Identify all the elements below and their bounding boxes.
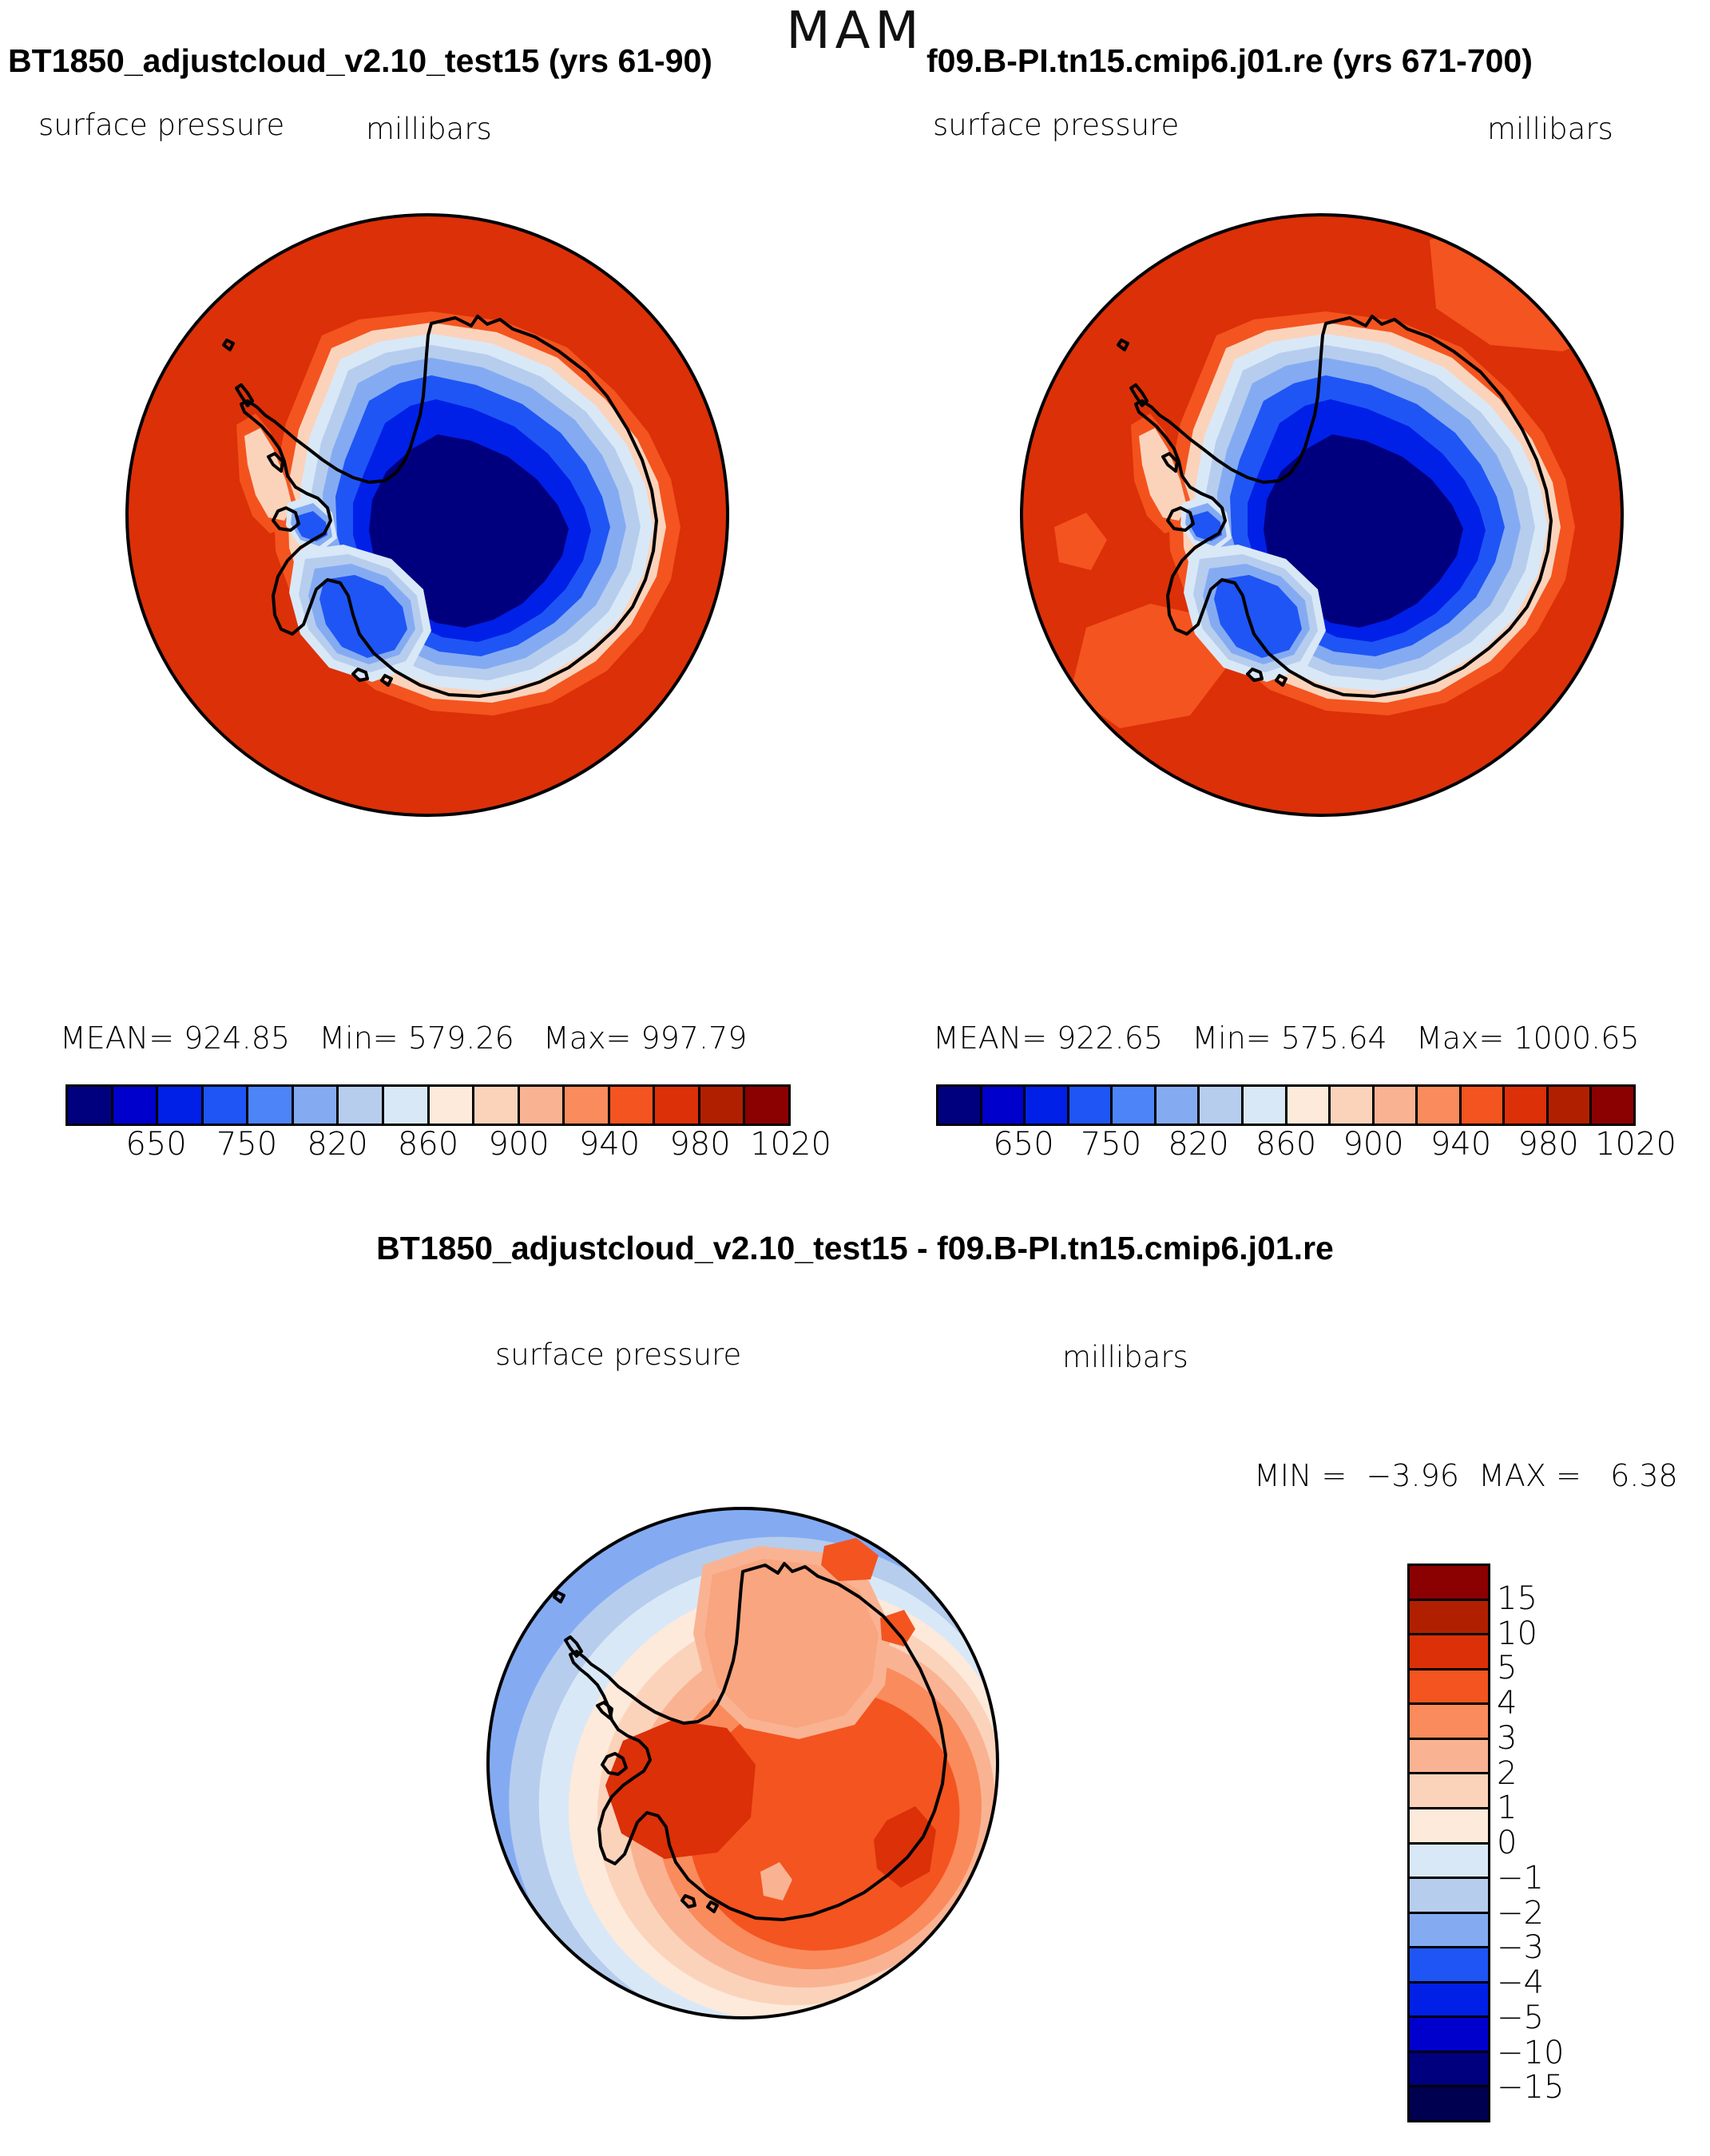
left-colorbar: 6507508208609009409801020 [65,1084,791,1171]
colorbar-tick-label: −3 [1497,1929,1544,1966]
colorbar-segment [204,1087,249,1124]
colorbar-tick-label: 1020 [750,1126,831,1163]
right-stats-min-label: Min= [1172,1021,1281,1056]
right-variable-label: surface pressure [933,108,1179,142]
colorbar-tick-label: 5 [1497,1650,1517,1686]
left-stats-max-label: Max= [524,1021,641,1056]
colorbar-segment [1592,1087,1633,1124]
colorbar-tick-label: 3 [1497,1720,1517,1757]
colorbar-segment [1410,1635,1488,1671]
colorbar-segment [1113,1087,1157,1124]
colorbar-segment [1200,1087,1244,1124]
diff-colorbar: 1510543210−1−2−3−4−5−10−15 [1407,1563,1490,2122]
left-stats-min-label: Min= [300,1021,408,1056]
colorbar-segment [1505,1087,1549,1124]
left-stats-mean: 924.85 [184,1021,290,1056]
colorbar-segment [1331,1087,1375,1124]
right-colorbar-ticks: 6507508208609009409801020 [936,1126,1636,1171]
colorbar-tick-label: 820 [1168,1126,1228,1163]
left-colorbar-strip [65,1084,791,1126]
colorbar-tick-label: −2 [1497,1895,1544,1932]
diff-colorbar-strip [1407,1563,1490,2122]
diff-max-label: MAX = [1469,1458,1610,1493]
right-units-label: millibars [1487,112,1613,146]
right-stats: MEAN= 922.65 Min= 575.64 Max= 1000.65 [933,1021,1640,1056]
colorbar-tick-label: 900 [1343,1126,1403,1163]
colorbar-segment [1026,1087,1069,1124]
colorbar-segment [68,1087,113,1124]
colorbar-tick-label: 1 [1497,1789,1517,1826]
colorbar-segment [1410,2018,1488,2053]
colorbar-tick-label: 4 [1497,1685,1517,1722]
left-stats-min: 579.26 [408,1021,514,1056]
colorbar-segment [610,1087,656,1124]
right-panel-title: f09.B-PI.tn15.cmip6.j01.re (yrs 671-700) [926,42,1533,80]
colorbar-segment [1410,2053,1488,2088]
colorbar-tick-label: 980 [669,1126,730,1163]
diff-max-value: 6.38 [1610,1458,1678,1493]
colorbar-segment [1410,1914,1488,1949]
colorbar-tick-label: 860 [1256,1126,1316,1163]
colorbar-segment [430,1087,475,1124]
colorbar-tick-label: 980 [1518,1126,1578,1163]
colorbar-segment [1375,1087,1418,1124]
colorbar-segment [158,1087,204,1124]
diff-panel-title: BT1850_adjustcloud_v2.10_test15 - f09.B-… [0,1230,1710,1267]
colorbar-tick-label: 2 [1497,1755,1517,1792]
colorbar-segment [248,1087,294,1124]
diff-min-value: −3.96 [1367,1458,1459,1493]
diff-minmax: MIN = −3.96 MAX = 6.38 [1254,1458,1678,1493]
right-stats-mean: 922.65 [1057,1021,1163,1056]
colorbar-segment [520,1087,565,1124]
colorbar-tick-label: 1020 [1595,1126,1676,1163]
right-stats-mean-label: MEAN= [933,1021,1057,1056]
colorbar-tick-label: −1 [1497,1860,1544,1896]
colorbar-tick-label: 650 [993,1126,1053,1163]
colorbar-tick-label: 0 [1497,1825,1517,1861]
colorbar-segment [1549,1087,1593,1124]
colorbar-segment [1287,1087,1331,1124]
colorbar-segment [113,1087,159,1124]
colorbar-segment [1410,1705,1488,1740]
colorbar-segment [700,1087,746,1124]
colorbar-segment [1410,1879,1488,1914]
colorbar-tick-label: 820 [307,1126,367,1163]
colorbar-tick-label: 10 [1497,1615,1537,1652]
diff-variable-label: surface pressure [495,1338,741,1372]
colorbar-segment [982,1087,1026,1124]
colorbar-segment [1410,1740,1488,1775]
colorbar-tick-label: 860 [398,1126,458,1163]
right-stats-min: 575.64 [1281,1021,1387,1056]
colorbar-segment [1462,1087,1506,1124]
colorbar-segment [339,1087,384,1124]
right-polar-map [950,152,1709,958]
left-units-label: millibars [366,112,492,146]
colorbar-segment [1410,1601,1488,1636]
colorbar-tick-label: 15 [1497,1580,1537,1617]
diff-units-label: millibars [1062,1340,1188,1374]
colorbar-segment [1157,1087,1200,1124]
colorbar-segment [1418,1087,1462,1124]
colorbar-segment [1244,1087,1287,1124]
colorbar-segment [1410,1984,1488,2019]
colorbar-tick-label: 650 [125,1126,186,1163]
colorbar-segment [1410,1845,1488,1880]
diff-polar-map [463,1389,1246,2156]
diff-min-label: MIN = [1254,1458,1367,1493]
colorbar-tick-label: −4 [1497,1964,1544,2001]
colorbar-tick-label: 750 [1081,1126,1141,1163]
colorbar-segment [745,1087,788,1124]
colorbar-tick-label: 900 [488,1126,549,1163]
colorbar-segment [1410,1948,1488,1984]
left-polar-map [56,152,815,958]
left-variable-label: surface pressure [38,108,284,142]
left-panel-title: BT1850_adjustcloud_v2.10_test15 (yrs 61-… [8,42,712,80]
diff-map-contours [423,1449,1119,2137]
colorbar-segment [1410,1809,1488,1845]
colorbar-tick-label: 940 [579,1126,640,1163]
colorbar-segment [565,1087,610,1124]
colorbar-segment [294,1087,339,1124]
colorbar-segment [1069,1087,1113,1124]
right-colorbar-strip [936,1084,1636,1126]
left-colorbar-ticks: 6507508208609009409801020 [65,1126,791,1171]
left-map-contours [127,215,728,815]
colorbar-tick-label: −5 [1497,1999,1544,2036]
left-stats-mean-label: MEAN= [60,1021,184,1056]
colorbar-segment [474,1087,520,1124]
right-stats-max: 1000.65 [1514,1021,1639,1056]
colorbar-segment [1410,1774,1488,1809]
left-stats: MEAN= 924.85 Min= 579.26 Max= 997.79 [60,1021,747,1056]
right-colorbar: 6507508208609009409801020 [936,1084,1636,1171]
colorbar-segment [1410,1671,1488,1706]
right-stats-max-label: Max= [1397,1021,1514,1056]
left-stats-max: 997.79 [641,1021,747,1056]
colorbar-segment [655,1087,700,1124]
colorbar-segment [1410,2087,1488,2120]
diff-colorbar-ticks: 1510543210−1−2−3−4−5−10−15 [1497,1563,1656,2122]
colorbar-tick-label: −15 [1497,2069,1564,2106]
colorbar-segment [938,1087,982,1124]
colorbar-tick-label: 940 [1430,1126,1491,1163]
colorbar-segment [384,1087,430,1124]
colorbar-tick-label: −10 [1497,2035,1564,2071]
colorbar-segment [1410,1566,1488,1601]
colorbar-tick-label: 750 [216,1126,277,1163]
